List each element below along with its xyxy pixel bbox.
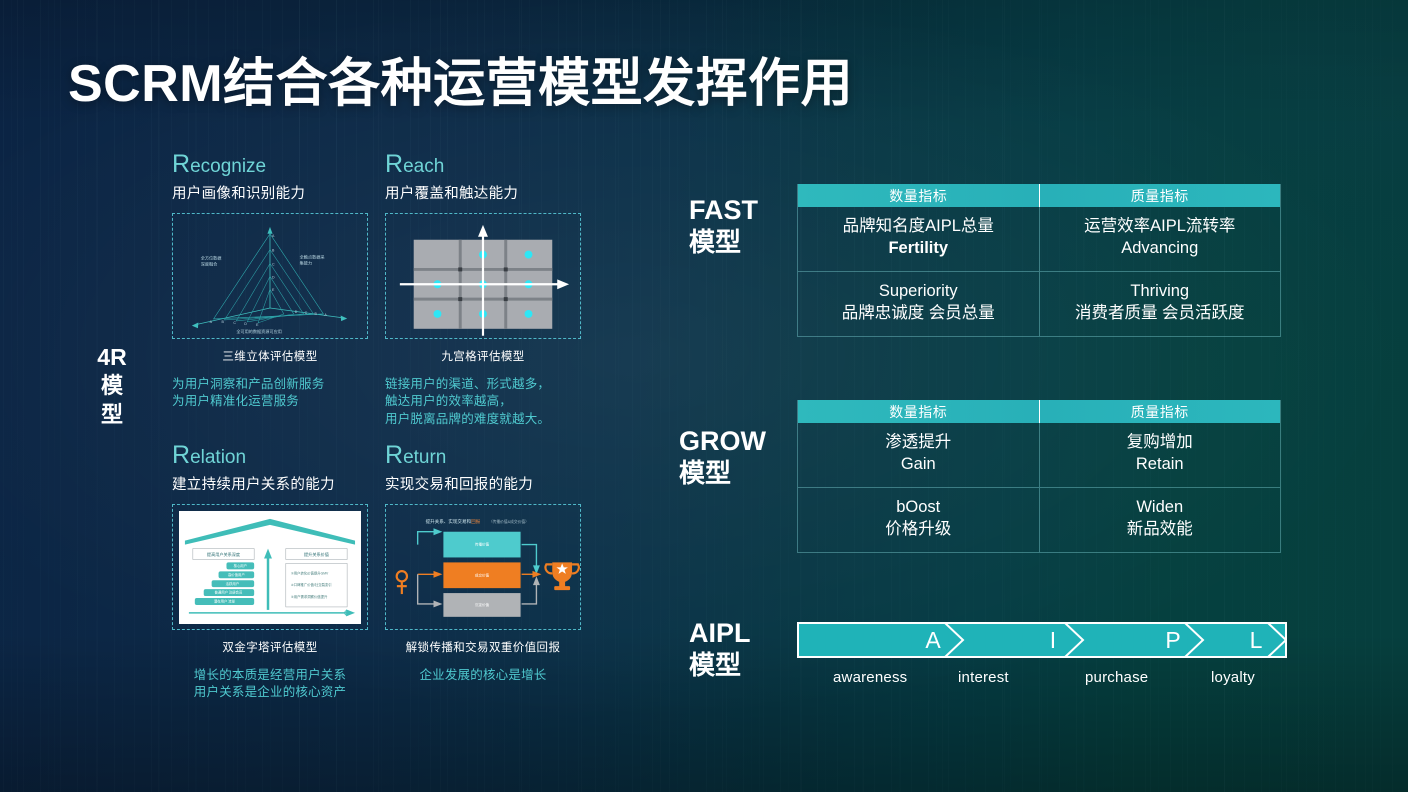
quadrant-relation-rest: elation bbox=[190, 447, 246, 468]
svg-text:沉淀价值: 沉淀价值 bbox=[475, 602, 490, 607]
aipl-letter-i: I bbox=[1050, 627, 1056, 653]
svg-text:集能力: 集能力 bbox=[300, 259, 312, 265]
quadrant-return-rest: eturn bbox=[403, 447, 446, 468]
cell-line: 运营效率AIPL流转率 bbox=[1046, 216, 1275, 238]
svg-text:①用户转化价值提升GMV: ①用户转化价值提升GMV bbox=[291, 570, 329, 575]
grow-table-header: 数量指标 质量指标 bbox=[798, 400, 1280, 423]
cell-line: 新品效能 bbox=[1046, 519, 1275, 541]
svg-text:B: B bbox=[315, 312, 318, 316]
quadrant-return: Return 实现交易和回报的能力 提升关系、实现交易和 回报 （传播价值&成交… bbox=[385, 443, 581, 684]
cell-line: 渗透提升 bbox=[804, 432, 1033, 454]
cell-line: Thriving bbox=[1046, 281, 1275, 303]
grow-cell-quantity-2: bOost 价格升级 bbox=[798, 488, 1040, 552]
svg-text:A: A bbox=[210, 320, 213, 324]
three-dimensional-radar-figure: AB CDE AB CDE AB CD 全方位数据 深度融合 全触点数据采 集能… bbox=[173, 214, 367, 339]
svg-text:C: C bbox=[233, 321, 236, 325]
quadrant-return-title: Return bbox=[385, 443, 581, 468]
aipl-stage-labels: awareness interest purchase loyalty bbox=[797, 669, 1297, 691]
svg-text:B: B bbox=[272, 249, 275, 253]
svg-text:全可用的数据资源可应用: 全可用的数据资源可应用 bbox=[236, 328, 282, 334]
svg-text:普通用户 注册会员: 普通用户 注册会员 bbox=[215, 590, 243, 595]
grow-cell-quantity-1: 渗透提升 Gain bbox=[798, 423, 1040, 487]
cell-line: 品牌知名度AIPL总量 bbox=[804, 216, 1033, 238]
quadrant-relation-caption: 双金字塔评估模型 bbox=[172, 639, 368, 655]
svg-text:E: E bbox=[256, 323, 259, 327]
fast-model-table: 数量指标 质量指标 品牌知名度AIPL总量 Fertility 运营效率AIPL… bbox=[797, 184, 1281, 337]
svg-text:提高用户关系深度: 提高用户关系深度 bbox=[207, 551, 240, 557]
quadrant-recognize-note-2: 为用户精准化运营服务 bbox=[172, 393, 368, 410]
quadrant-return-caption: 解锁传播和交易双重价值回报 bbox=[385, 639, 581, 655]
svg-text:成交价值: 成交价值 bbox=[475, 572, 490, 577]
aipl-letter-a: A bbox=[925, 627, 941, 653]
grow-model-table: 数量指标 质量指标 渗透提升 Gain 复购增加 Retain bOost 价格… bbox=[797, 400, 1281, 553]
svg-text:D: D bbox=[272, 275, 275, 279]
quadrant-relation-initial: R bbox=[172, 441, 190, 469]
quadrant-reach-initial: R bbox=[385, 150, 403, 178]
fast-column-quality: 质量指标 bbox=[1040, 184, 1281, 207]
fast-label-en: FAST bbox=[689, 195, 758, 225]
table-row: bOost 价格升级 Widen 新品效能 bbox=[798, 487, 1280, 552]
cell-line: 品牌忠诚度 会员总量 bbox=[804, 303, 1033, 325]
quadrant-relation-title: Relation bbox=[172, 443, 368, 468]
quadrant-recognize-caption: 三维立体评估模型 bbox=[172, 348, 368, 364]
cell-line: Advancing bbox=[1046, 238, 1275, 260]
quadrant-reach-note-3: 用户脱离品牌的难度就越大。 bbox=[385, 411, 581, 428]
svg-text:全方位数据: 全方位数据 bbox=[201, 255, 222, 261]
four-r-label-cn-1: 模 bbox=[92, 372, 132, 400]
grow-label-cn: 模型 bbox=[679, 458, 766, 490]
quadrant-recognize-notes: 为用户洞察和产品创新服务 为用户精准化运营服务 bbox=[172, 376, 368, 411]
four-r-label-cn-2: 型 bbox=[92, 401, 132, 429]
aipl-label-purchase: purchase bbox=[1085, 669, 1148, 686]
grow-column-quality: 质量指标 bbox=[1040, 400, 1281, 423]
svg-text:C: C bbox=[272, 262, 275, 266]
quadrant-recognize: Recognize 用户画像和识别能力 bbox=[172, 152, 368, 411]
quadrant-reach-subtitle: 用户覆盖和触达能力 bbox=[385, 182, 581, 203]
aipl-letter-p: P bbox=[1165, 627, 1180, 653]
double-pyramid-figure: 用户关系深度 提高用户关系深度 提升关系价值 核心用户 高价值用户 活跃用户 普… bbox=[179, 511, 361, 624]
quadrant-recognize-title: Recognize bbox=[172, 152, 368, 177]
fast-table-header: 数量指标 质量指标 bbox=[798, 184, 1280, 207]
svg-text:回报: 回报 bbox=[471, 518, 481, 525]
svg-text:A: A bbox=[324, 313, 327, 317]
aipl-label-awareness: awareness bbox=[833, 669, 907, 686]
return-flow-figure: 提升关系、实现交易和 回报 （传播价值&成交价值） 传播价值 成交价值 沉淀价值 bbox=[386, 505, 580, 630]
cell-line: Retain bbox=[1046, 454, 1275, 476]
quadrant-reach-note-2: 触达用户的效率越高， bbox=[385, 393, 581, 410]
svg-text:传播价值: 传播价值 bbox=[475, 542, 490, 547]
grow-column-quantity: 数量指标 bbox=[798, 400, 1040, 423]
quadrant-return-note-1: 企业发展的核心是增长 bbox=[385, 667, 581, 684]
aipl-label-loyalty: loyalty bbox=[1211, 669, 1255, 686]
svg-text:用户关系深度: 用户关系深度 bbox=[255, 532, 285, 539]
svg-text:高价值用户: 高价值用户 bbox=[228, 572, 245, 577]
quadrant-reach-rest: each bbox=[403, 156, 444, 177]
svg-text:活跃用户: 活跃用户 bbox=[226, 581, 239, 586]
aipl-label-cn: 模型 bbox=[689, 650, 751, 682]
grow-cell-quality-2: Widen 新品效能 bbox=[1040, 488, 1281, 552]
fast-cell-quantity-1: 品牌知名度AIPL总量 Fertility bbox=[798, 207, 1040, 271]
quadrant-reach-notes: 链接用户的渠道、形式越多， 触达用户的效率越高， 用户脱离品牌的难度就越大。 bbox=[385, 376, 581, 428]
cell-line: Gain bbox=[804, 454, 1033, 476]
quadrant-relation: Relation 建立持续用户关系的能力 用户关系深度 提高用户关系深度 提升关… bbox=[172, 443, 368, 702]
quadrant-relation-note-2: 用户关系是企业的核心资产 bbox=[172, 684, 368, 701]
aipl-model-label: AIPL 模型 bbox=[689, 617, 751, 682]
svg-text:B: B bbox=[221, 320, 224, 324]
grow-cell-quality-1: 复购增加 Retain bbox=[1040, 423, 1281, 487]
table-row: 渗透提升 Gain 复购增加 Retain bbox=[798, 423, 1280, 487]
quadrant-reach-title: Reach bbox=[385, 152, 581, 177]
fast-column-quantity: 数量指标 bbox=[798, 184, 1040, 207]
svg-text:C: C bbox=[305, 311, 308, 315]
page-title: SCRM结合各种运营模型发挥作用 bbox=[68, 41, 853, 116]
quadrant-reach: Reach 用户覆盖和触达能力 bbox=[385, 152, 581, 428]
svg-text:全触点数据采: 全触点数据采 bbox=[300, 254, 325, 260]
quadrant-relation-notes: 增长的本质是经营用户关系 用户关系是企业的核心资产 bbox=[172, 667, 368, 702]
svg-text:③用户需求洞察价值提升: ③用户需求洞察价值提升 bbox=[291, 594, 328, 599]
quadrant-relation-subtitle: 建立持续用户关系的能力 bbox=[172, 473, 368, 494]
quadrant-return-initial: R bbox=[385, 441, 403, 469]
table-row: Superiority 品牌忠诚度 会员总量 Thriving 消费者质量 会员… bbox=[798, 271, 1280, 336]
quadrant-return-subtitle: 实现交易和回报的能力 bbox=[385, 473, 581, 494]
svg-text:潜在用户 流量: 潜在用户 流量 bbox=[214, 599, 236, 604]
fast-cell-quantity-2: Superiority 品牌忠诚度 会员总量 bbox=[798, 272, 1040, 336]
cell-line: Superiority bbox=[804, 281, 1033, 303]
quadrant-recognize-rest: ecognize bbox=[190, 156, 266, 177]
svg-text:（传播价值&成交价值）: （传播价值&成交价值） bbox=[489, 519, 529, 524]
fast-label-cn: 模型 bbox=[689, 227, 758, 259]
table-row: 品牌知名度AIPL总量 Fertility 运营效率AIPL流转率 Advanc… bbox=[798, 207, 1280, 271]
svg-text:E: E bbox=[272, 288, 275, 292]
aipl-label-interest: interest bbox=[958, 669, 1009, 686]
svg-text:A: A bbox=[272, 234, 275, 238]
quadrant-return-figure-frame: 提升关系、实现交易和 回报 （传播价值&成交价值） 传播价值 成交价值 沉淀价值 bbox=[385, 504, 581, 630]
four-r-label-en: 4R bbox=[97, 344, 126, 370]
quadrant-recognize-initial: R bbox=[172, 150, 190, 178]
quadrant-reach-caption: 九宫格评估模型 bbox=[385, 348, 581, 364]
cell-line: Widen bbox=[1046, 497, 1275, 519]
cell-line: 价格升级 bbox=[804, 519, 1033, 541]
grow-model-label: GROW 模型 bbox=[679, 425, 766, 490]
svg-text:核心用户: 核心用户 bbox=[234, 563, 247, 568]
aipl-label-en: AIPL bbox=[689, 618, 751, 648]
trophy-icon bbox=[545, 562, 578, 590]
quadrant-recognize-note-1: 为用户洞察和产品创新服务 bbox=[172, 376, 368, 393]
svg-text:提升关系、实现交易和: 提升关系、实现交易和 bbox=[426, 518, 472, 525]
svg-text:②口碑推广价值/社交裂变引: ②口碑推广价值/社交裂变引 bbox=[291, 582, 332, 587]
cell-line: 消费者质量 会员活跃度 bbox=[1046, 303, 1275, 325]
svg-text:深度融合: 深度融合 bbox=[201, 260, 218, 266]
svg-text:提升关系价值: 提升关系价值 bbox=[304, 551, 329, 557]
cell-line: 复购增加 bbox=[1046, 432, 1275, 454]
four-r-model-label: 4R 模 型 bbox=[92, 343, 132, 429]
quadrant-recognize-subtitle: 用户画像和识别能力 bbox=[172, 182, 368, 203]
quadrant-reach-figure-frame bbox=[385, 213, 581, 339]
quadrant-relation-note-1: 增长的本质是经营用户关系 bbox=[172, 667, 368, 684]
quadrant-relation-figure-frame: 用户关系深度 提高用户关系深度 提升关系价值 核心用户 高价值用户 活跃用户 普… bbox=[172, 504, 368, 630]
aipl-letter-l: L bbox=[1250, 627, 1263, 653]
quadrant-reach-note-1: 链接用户的渠道、形式越多， bbox=[385, 376, 581, 393]
fast-cell-quality-1: 运营效率AIPL流转率 Advancing bbox=[1040, 207, 1281, 271]
nine-grid-figure bbox=[386, 214, 580, 339]
quadrant-return-notes: 企业发展的核心是增长 bbox=[385, 667, 581, 684]
quadrant-recognize-figure-frame: AB CDE AB CDE AB CD 全方位数据 深度融合 全触点数据采 集能… bbox=[172, 213, 368, 339]
svg-text:D: D bbox=[244, 322, 247, 326]
cell-line: bOost bbox=[804, 497, 1033, 519]
grow-label-en: GROW bbox=[679, 426, 766, 456]
svg-text:D: D bbox=[295, 310, 298, 314]
aipl-funnel-bar: A I P L bbox=[797, 622, 1287, 658]
fast-cell-quality-2: Thriving 消费者质量 会员活跃度 bbox=[1040, 272, 1281, 336]
cell-line: Fertility bbox=[804, 238, 1033, 260]
fast-model-label: FAST 模型 bbox=[689, 194, 758, 259]
